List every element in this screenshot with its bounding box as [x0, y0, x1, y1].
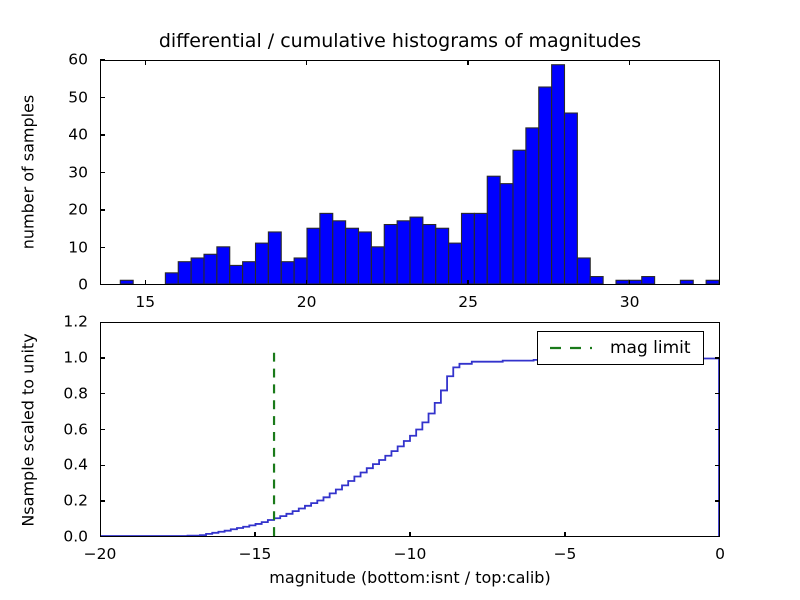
bottom-xtick-label: −20 — [84, 547, 117, 563]
histogram-plot — [101, 61, 719, 284]
top-panel-ylabel: number of samples — [19, 95, 38, 250]
histogram-bar — [384, 225, 397, 284]
histogram-bar — [487, 176, 500, 284]
bottom-ytick-mark — [100, 500, 105, 502]
histogram-bar — [539, 87, 552, 284]
histogram-bar — [449, 243, 462, 284]
top-ytick-mark — [100, 97, 105, 99]
histogram-bar — [204, 254, 217, 284]
bottom-ytick-mark — [715, 357, 720, 359]
bottom-xtick-label: 0 — [715, 547, 725, 563]
histogram-bar — [513, 150, 526, 284]
histogram-bar — [307, 228, 320, 284]
legend-box[interactable]: mag limit — [537, 331, 704, 365]
histogram-bar — [462, 213, 475, 284]
histogram-bar — [268, 232, 281, 284]
bottom-ytick-label: 0.2 — [28, 493, 88, 509]
top-histogram-axes — [100, 60, 720, 285]
top-ytick-mark — [100, 209, 105, 211]
bottom-ytick-label: 0.4 — [28, 458, 88, 474]
top-xtick-mark — [467, 280, 469, 285]
top-ytick-mark — [100, 172, 105, 174]
histogram-bar — [333, 221, 346, 284]
top-ytick-mark — [100, 134, 105, 136]
bottom-ytick-label: 0.6 — [28, 422, 88, 438]
histogram-bar — [590, 277, 603, 284]
histogram-bar — [165, 273, 178, 284]
histogram-bar — [436, 228, 449, 284]
histogram-bar — [397, 221, 410, 284]
histogram-bar — [423, 225, 436, 284]
histogram-bar — [120, 280, 133, 284]
histogram-bar — [371, 247, 384, 284]
figure-title: differential / cumulative histograms of … — [0, 30, 800, 52]
top-xtick-label: 25 — [458, 295, 478, 311]
bottom-xtick-label: −15 — [239, 547, 272, 563]
histogram-bar — [577, 258, 590, 284]
histogram-bar — [706, 280, 719, 284]
histogram-bar — [359, 232, 372, 284]
bottom-ytick-mark — [100, 393, 105, 395]
bottom-xtick-label: −10 — [394, 547, 427, 563]
bottom-ytick-label: 1.2 — [28, 314, 88, 330]
top-xtick-mark — [145, 280, 147, 285]
histogram-bar — [410, 217, 423, 284]
histogram-bar — [526, 128, 539, 284]
top-ytick-label: 40 — [40, 127, 88, 143]
top-xtick-mark — [467, 60, 469, 65]
histogram-bar — [178, 262, 191, 284]
top-ytick-label: 20 — [40, 202, 88, 218]
histogram-bar — [191, 258, 204, 284]
bottom-ytick-mark — [715, 393, 720, 395]
histogram-bar — [642, 277, 655, 284]
bottom-ytick-mark — [715, 465, 720, 467]
top-ytick-label: 60 — [40, 52, 88, 68]
bottom-ytick-mark — [715, 500, 720, 502]
histogram-bar — [500, 184, 513, 284]
top-ytick-label: 30 — [40, 165, 88, 181]
bottom-xtick-mark — [564, 532, 566, 537]
top-xtick-mark — [306, 280, 308, 285]
top-ytick-label: 0 — [40, 277, 88, 293]
top-xtick-label: 20 — [297, 295, 317, 311]
histogram-bar — [230, 265, 243, 284]
bottom-ytick-mark — [100, 357, 105, 359]
top-ytick-mark — [100, 247, 105, 249]
bottom-ytick-label: 0.0 — [28, 529, 88, 545]
figure-canvas: differential / cumulative histograms of … — [0, 0, 800, 600]
histogram-bar — [346, 228, 359, 284]
histogram-bar — [474, 213, 487, 284]
legend-label-mag-limit: mag limit — [610, 338, 691, 358]
top-xtick-label: 15 — [135, 295, 155, 311]
histogram-bar — [320, 213, 333, 284]
histogram-bar — [243, 262, 256, 284]
mag-limit-line-icon — [548, 343, 594, 353]
histogram-bar — [616, 280, 629, 284]
histogram-bar — [217, 247, 230, 284]
histogram-bar — [552, 65, 565, 284]
bottom-ytick-label: 0.8 — [28, 386, 88, 402]
bottom-xtick-label: −5 — [554, 547, 577, 563]
histogram-bar — [281, 262, 294, 284]
top-xtick-mark — [145, 60, 147, 65]
top-ytick-mark — [100, 59, 105, 61]
bottom-ytick-mark — [100, 429, 105, 431]
top-ytick-label: 50 — [40, 90, 88, 106]
histogram-bar — [256, 243, 269, 284]
bottom-ytick-label: 1.0 — [28, 350, 88, 366]
top-xtick-label: 30 — [620, 295, 640, 311]
histogram-bar — [629, 280, 642, 284]
bottom-ytick-mark — [100, 465, 105, 467]
bottom-panel-xlabel: magnitude (bottom:isnt / top:calib) — [269, 568, 550, 587]
top-ytick-label: 10 — [40, 240, 88, 256]
histogram-bar — [680, 280, 693, 284]
cumulative-curve — [101, 359, 719, 537]
bottom-ytick-mark — [715, 429, 720, 431]
top-xtick-mark — [306, 60, 308, 65]
bottom-xtick-mark — [254, 532, 256, 537]
top-xtick-mark — [629, 280, 631, 285]
histogram-bar — [565, 113, 578, 284]
top-xtick-mark — [629, 60, 631, 65]
bottom-xtick-mark — [409, 532, 411, 537]
